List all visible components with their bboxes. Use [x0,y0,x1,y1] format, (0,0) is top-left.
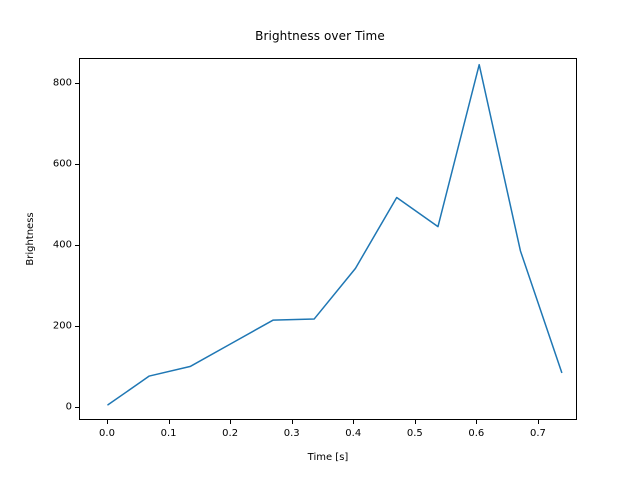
plot-axes [79,58,577,420]
y-axis-tick-labels: 0200400600800 [0,58,72,420]
x-axis-tick-label: 0.5 [407,428,423,439]
y-axis-tick-label: 600 [53,159,72,170]
matplotlib-figure: Brightness over Time Brightness 02004006… [0,0,640,480]
plot-canvas [80,59,578,421]
y-axis-tick-label: 200 [53,321,72,332]
x-axis-tick-label: 0.6 [468,428,484,439]
data-line-brightness [108,65,562,405]
chart-title: Brightness over Time [0,29,640,43]
y-axis-tick-label: 400 [53,240,72,251]
x-axis-label: Time [s] [79,452,577,463]
x-axis-tick-labels: 0.00.10.20.30.40.50.60.7 [0,424,640,444]
x-axis-tick-label: 0.3 [284,428,300,439]
x-axis-tick-label: 0.7 [530,428,546,439]
x-axis-tick-label: 0.1 [161,428,177,439]
x-axis-tick-label: 0.2 [222,428,238,439]
x-axis-tick-label: 0.0 [99,428,115,439]
y-axis-tick-label: 800 [53,78,72,89]
y-axis-tick-label: 0 [66,402,72,413]
x-axis-tick-label: 0.4 [345,428,361,439]
